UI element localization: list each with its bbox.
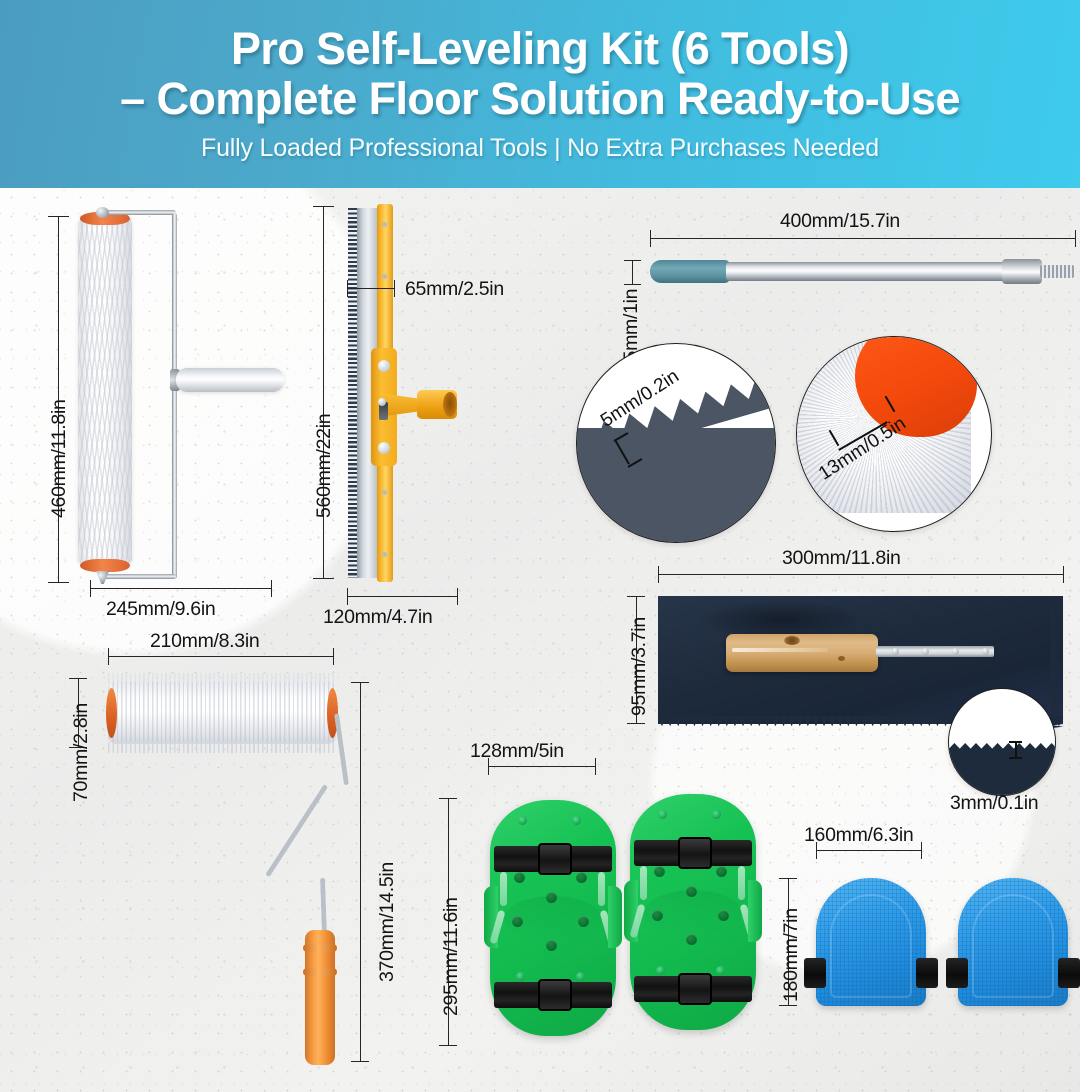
shoe-strap-slot (489, 910, 505, 945)
dimlabel-small-roller-diameter: 70mm/2.8in (70, 703, 93, 802)
shoe-strap-slot (629, 904, 645, 939)
dimlabel-trowel-notch: 3mm/0.1in (950, 792, 1038, 815)
dimlabel-shoe-width: 128mm/5in (470, 740, 564, 763)
dimlabel-squeegee-height: 560mm/22in (313, 414, 336, 518)
dimcap-big-roller-right (271, 580, 272, 597)
shoe-strap-slot (640, 866, 647, 900)
dimlabel-big-roller-width: 245mm/9.6in (106, 598, 215, 621)
shoe-stud (686, 886, 697, 897)
shoe-buckle-top[interactable] (678, 837, 712, 869)
knee-strap-right[interactable] (1058, 958, 1080, 988)
dimline-squeegee-depth (347, 288, 395, 289)
roller-frame-bottom-arm (104, 574, 176, 579)
spike-shoe-left (490, 800, 616, 1036)
shoe-stud (652, 910, 663, 921)
shoe-buckle-top[interactable] (538, 843, 572, 875)
shoe-strap-top[interactable] (494, 846, 612, 872)
trowel-handle-knot (784, 636, 800, 645)
trowel-wooden-handle (726, 634, 878, 672)
dimcap-knee-right (921, 842, 922, 859)
knee-pad-right (958, 878, 1068, 1006)
header-banner: Pro Self-Leveling Kit (6 Tools) – Comple… (0, 0, 1080, 188)
shoe-screw (518, 816, 527, 825)
dimlabel-trowel-width: 300mm/11.8in (782, 547, 901, 570)
pole-threaded-tip (1040, 265, 1074, 278)
dimcap-trowel-right (1063, 566, 1064, 583)
squeegee-rivet (382, 222, 387, 227)
small-roller-grip-rib (303, 944, 337, 952)
dimcap-squeegee-top (313, 206, 334, 207)
knee-strap-left[interactable] (946, 958, 968, 988)
squeegee-mount-bolt (378, 442, 390, 454)
shoe-stud (718, 910, 729, 921)
shoe-buckle-bottom[interactable] (678, 973, 712, 1005)
knee-pad-left (816, 878, 926, 1006)
small-roller-rod-lower (320, 878, 327, 936)
spike-shoe-right (630, 794, 756, 1030)
pole-shaft (726, 262, 1012, 281)
shoe-strap-bottom[interactable] (494, 982, 612, 1008)
dimcap-trowel-top (627, 596, 645, 597)
dimline-squeegee-height (323, 206, 324, 578)
dimline-pole-length (650, 238, 1076, 239)
trowel-rivet (892, 648, 899, 655)
callout-notch-cap-bottom (1009, 757, 1022, 759)
knee-pad-inner-ridge (972, 894, 1054, 998)
shoe-screw (576, 972, 585, 981)
roller-frame-top-arm (104, 210, 176, 215)
small-roller-drum (108, 682, 336, 744)
knee-pad-inner-ridge (830, 894, 912, 998)
knee-strap-left[interactable] (804, 958, 826, 988)
dimline-knee-width (816, 850, 922, 851)
dimline-small-roller-length (360, 682, 361, 1062)
shoe-stud (576, 872, 587, 883)
shoe-stud (546, 940, 557, 951)
trowel-rivet (922, 648, 929, 655)
dimcap-knee-top (779, 878, 797, 879)
squeegee-teeth-edge (348, 208, 357, 578)
product-infographic: Pro Self-Leveling Kit (6 Tools) – Comple… (0, 0, 1080, 1092)
dimcap-big-roller-bottom (48, 582, 69, 583)
dimline-shoe-width (488, 766, 596, 767)
product-extension-pole: 400mm/15.7in 25mm/1in (650, 250, 1080, 310)
dimline-small-roller-width (108, 656, 334, 657)
dimcap-shoe-right (595, 758, 596, 775)
dimlabel-squeegee-width: 120mm/4.7in (323, 606, 432, 629)
small-roller-grip-rib (303, 968, 337, 976)
dimcap-shoe-bottom (439, 1045, 457, 1046)
dimcap-trowel-bottom (627, 723, 645, 724)
shoe-strap-slot (739, 904, 755, 939)
roller-drum (78, 216, 132, 566)
shoe-stud (716, 866, 727, 877)
squeegee-socket-neck (385, 394, 421, 416)
dimcap-pole-right (1075, 230, 1076, 247)
dimcap-pole-dia-bottom (624, 284, 641, 285)
shoe-screw (658, 810, 667, 819)
roller-end-cap-bottom (80, 559, 130, 572)
dimlabel-knee-width: 160mm/6.3in (804, 824, 913, 847)
shoe-screw (516, 972, 525, 981)
dimline-squeegee-width (347, 596, 458, 597)
concrete-background: 460mm/11.8in 245mm/9.6in (0, 188, 1080, 1092)
dimlabel-trowel-height: 95mm/3.7in (628, 617, 651, 716)
dimcap-small-roller-len-top (351, 682, 369, 683)
dimcap-big-roller-left (90, 580, 91, 597)
roller-frame-spine (172, 213, 177, 579)
dimlabel-small-roller-length: 370mm/14.5in (376, 862, 399, 982)
pole-rubber-cap (650, 260, 730, 283)
dimcap-squeegee-bottom (313, 578, 334, 579)
shoe-stud (686, 934, 697, 945)
dimcap-knee-bottom (779, 1005, 797, 1006)
dimcap-squeegee-depth-left (347, 280, 348, 297)
dimlabel-knee-height: 180mm/7in (780, 908, 803, 1002)
dimcap-squeegee-depth-right (394, 280, 395, 297)
banner-subtitle: Fully Loaded Professional Tools | No Ext… (201, 134, 879, 163)
small-roller-end-cap-left (106, 688, 117, 738)
dimcap-pole-left (650, 230, 651, 247)
dimcap-small-roller-right (333, 648, 334, 665)
shoe-screw (712, 810, 721, 819)
squeegee-mount-bolt (378, 360, 390, 372)
shoe-strap-slot (599, 910, 615, 945)
squeegee-rivet (382, 274, 387, 279)
squeegee-rivet (382, 490, 387, 495)
shoe-screw (716, 966, 725, 975)
callout-squeegee-tooth-detail: 5mm/0.2in (576, 343, 776, 543)
callout-spike-bolt (949, 341, 975, 354)
shoe-screw (572, 816, 581, 825)
pole-collar (1002, 259, 1042, 284)
dimline-big-roller-width (90, 588, 272, 589)
dimlabel-pole-length: 400mm/15.7in (780, 210, 900, 233)
banner-title-line1: Pro Self-Leveling Kit (6 Tools) (231, 25, 849, 73)
roller-axle-top (96, 207, 109, 218)
dimcap-trowel-left (658, 566, 659, 583)
product-large-spike-roller: 460mm/11.8in 245mm/9.6in (0, 188, 300, 608)
dimcap-small-roller-dia-top (69, 678, 87, 679)
trowel-rivet (952, 648, 959, 655)
shoe-screw (656, 966, 665, 975)
shoe-strap-top[interactable] (634, 840, 752, 866)
small-roller-spikes-bottom (108, 742, 336, 753)
dimlabel-big-roller-height: 460mm/11.8in (48, 399, 71, 518)
callout-trowel-notch-detail (948, 688, 1056, 796)
dimlabel-small-roller-width: 210mm/8.3in (150, 630, 259, 653)
dimcap-pole-dia-top (624, 260, 641, 261)
roller-grip (176, 368, 284, 392)
knee-strap-right[interactable] (916, 958, 938, 988)
dimcap-big-roller-top (48, 216, 69, 217)
shoe-strap-slot (500, 872, 507, 906)
product-small-spike-roller: 210mm/8.3in 70mm/2.8in 370mm/14.5in (108, 682, 408, 1082)
shoe-stud (546, 892, 557, 903)
shoe-stud (654, 866, 665, 877)
callout-roller-spike-detail: 13mm/0.5in (796, 336, 992, 532)
dimcap-small-roller-left (108, 648, 109, 665)
shoe-strap-bottom[interactable] (634, 976, 752, 1002)
dimcap-small-roller-len-bottom (351, 1061, 369, 1062)
product-spike-shoes: 128mm/5in 295mm/11.6in (490, 788, 760, 1068)
callout-notch-measure-line (1015, 741, 1017, 757)
shoe-stud (514, 872, 525, 883)
dimline-pole-diameter (632, 260, 633, 284)
small-roller-rod-diagonal (265, 784, 328, 877)
product-notched-trowel: 300mm/11.8in 95mm/3.7in 3mm/0.1in (658, 596, 1078, 746)
squeegee-rivet (382, 552, 387, 557)
dimcap-shoe-top (439, 798, 457, 799)
shoe-buckle-bottom[interactable] (538, 979, 572, 1011)
shoe-stud (512, 916, 523, 927)
squeegee-socket-opening (443, 392, 457, 417)
shoe-strap-slot (738, 866, 745, 900)
trowel-handle-knot-small (838, 656, 845, 661)
squeegee-adjust-screw (378, 398, 386, 406)
callout-notch-cap-top (1009, 741, 1022, 743)
product-knee-pads: 160mm/6.3in 180mm/7in (816, 856, 1080, 1086)
dimlabel-shoe-length: 295mm/11.6in (440, 897, 463, 1016)
trowel-handle-grain (732, 648, 828, 652)
shoe-strap-slot (598, 872, 605, 906)
product-yellow-squeegee: 560mm/22in 65mm/2.5in 120mm/4.7in (355, 208, 555, 608)
small-roller-rod-upper (334, 713, 349, 785)
shoe-stud (578, 916, 589, 927)
banner-title-line2: – Complete Floor Solution Ready-to-Use (120, 75, 960, 123)
dimcap-squeegee-width-right (457, 588, 458, 605)
dimcap-squeegee-width-left (347, 588, 348, 605)
dimline-trowel-width (658, 574, 1064, 575)
trowel-rivet (982, 648, 989, 655)
dimlabel-squeegee-depth: 65mm/2.5in (405, 278, 504, 301)
